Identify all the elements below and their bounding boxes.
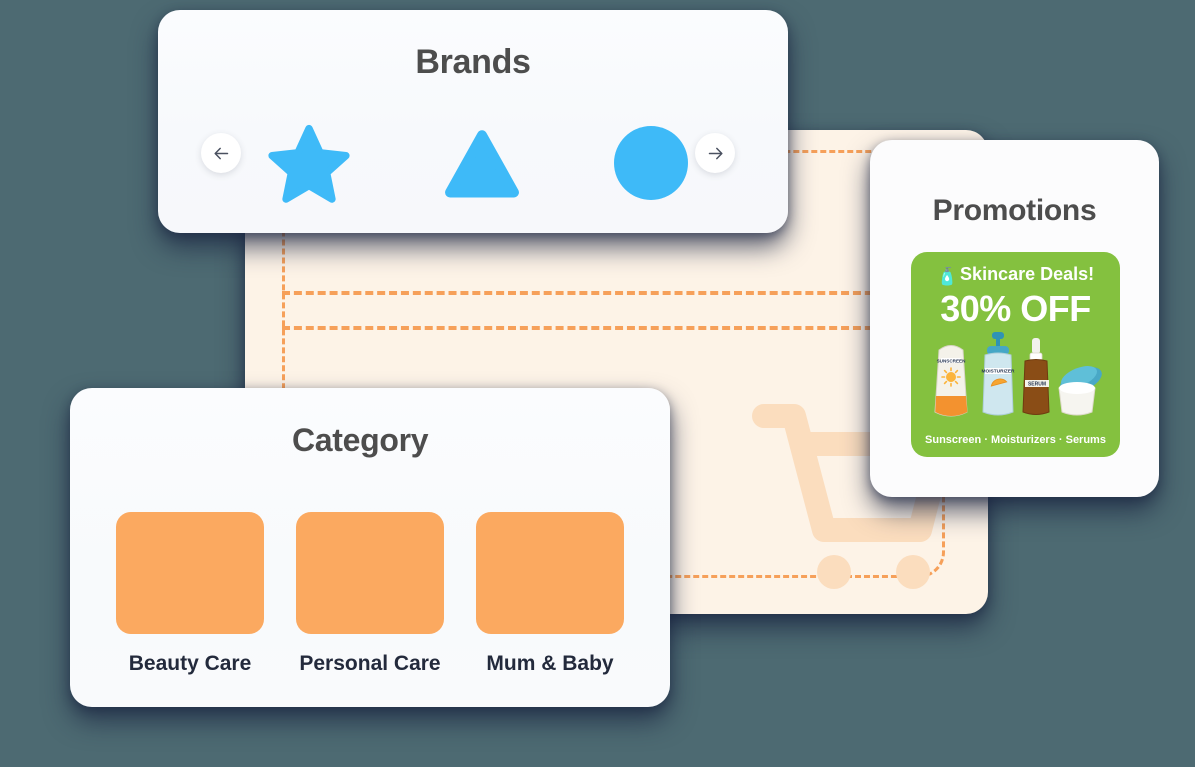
category-item-label: Personal Care xyxy=(299,652,440,676)
category-item-label: Mum & Baby xyxy=(486,652,613,676)
promotions-card: Promotions 🧴Skincare Deals! 30% OFF SUNS… xyxy=(870,140,1159,497)
illustration-stage: Brands xyxy=(0,0,1195,767)
category-title: Category xyxy=(292,422,428,459)
category-list: Beauty Care Personal Care Mum & Baby xyxy=(116,512,628,676)
brands-card: Brands xyxy=(158,10,788,233)
promo-product-image: SUNSCREEN MOISTURIZER xyxy=(919,330,1112,428)
category-card: Category Beauty Care Personal Care Mum &… xyxy=(70,388,670,707)
arrow-left-icon xyxy=(212,144,231,163)
dashed-divider-1 xyxy=(282,291,968,295)
promo-headline: 🧴Skincare Deals! xyxy=(911,264,1120,287)
category-item-label: Beauty Care xyxy=(129,652,252,676)
brand-triangle-icon[interactable] xyxy=(440,125,524,201)
promo-banner[interactable]: 🧴Skincare Deals! 30% OFF SUNSCREEN xyxy=(911,252,1120,457)
svg-text:SUNSCREEN: SUNSCREEN xyxy=(937,358,967,363)
svg-text:SERUM: SERUM xyxy=(1028,381,1046,387)
brand-circle-icon[interactable] xyxy=(614,126,688,200)
brands-prev-button[interactable] xyxy=(201,133,241,173)
moisturizer-bottle: MOISTURIZER xyxy=(981,332,1015,415)
sunscreen-tube: SUNSCREEN xyxy=(935,346,967,417)
svg-text:MOISTURIZER: MOISTURIZER xyxy=(981,369,1015,375)
category-item-mum-and-baby[interactable]: Mum & Baby xyxy=(476,512,624,676)
category-thumbnail xyxy=(296,512,444,634)
serum-bottle: SERUM xyxy=(1023,338,1049,415)
brands-next-button[interactable] xyxy=(695,133,735,173)
promotions-title: Promotions xyxy=(870,194,1159,228)
category-thumbnail xyxy=(116,512,264,634)
brands-title: Brands xyxy=(158,43,788,82)
category-thumbnail xyxy=(476,512,624,634)
promo-headline-text: Skincare Deals! xyxy=(960,264,1094,284)
lotion-tube-icon: 🧴 xyxy=(937,267,958,286)
brand-logo-list xyxy=(268,115,688,210)
promo-discount: 30% OFF xyxy=(911,288,1120,330)
dashed-divider-2 xyxy=(282,326,968,330)
category-item-personal-care[interactable]: Personal Care xyxy=(296,512,444,676)
arrow-right-icon xyxy=(706,144,725,163)
promo-footnote: Sunscreen · Moisturizers · Serums xyxy=(911,434,1120,446)
brand-star-icon[interactable] xyxy=(268,122,350,204)
category-item-beauty-care[interactable]: Beauty Care xyxy=(116,512,264,676)
cream-jar xyxy=(1056,362,1105,415)
